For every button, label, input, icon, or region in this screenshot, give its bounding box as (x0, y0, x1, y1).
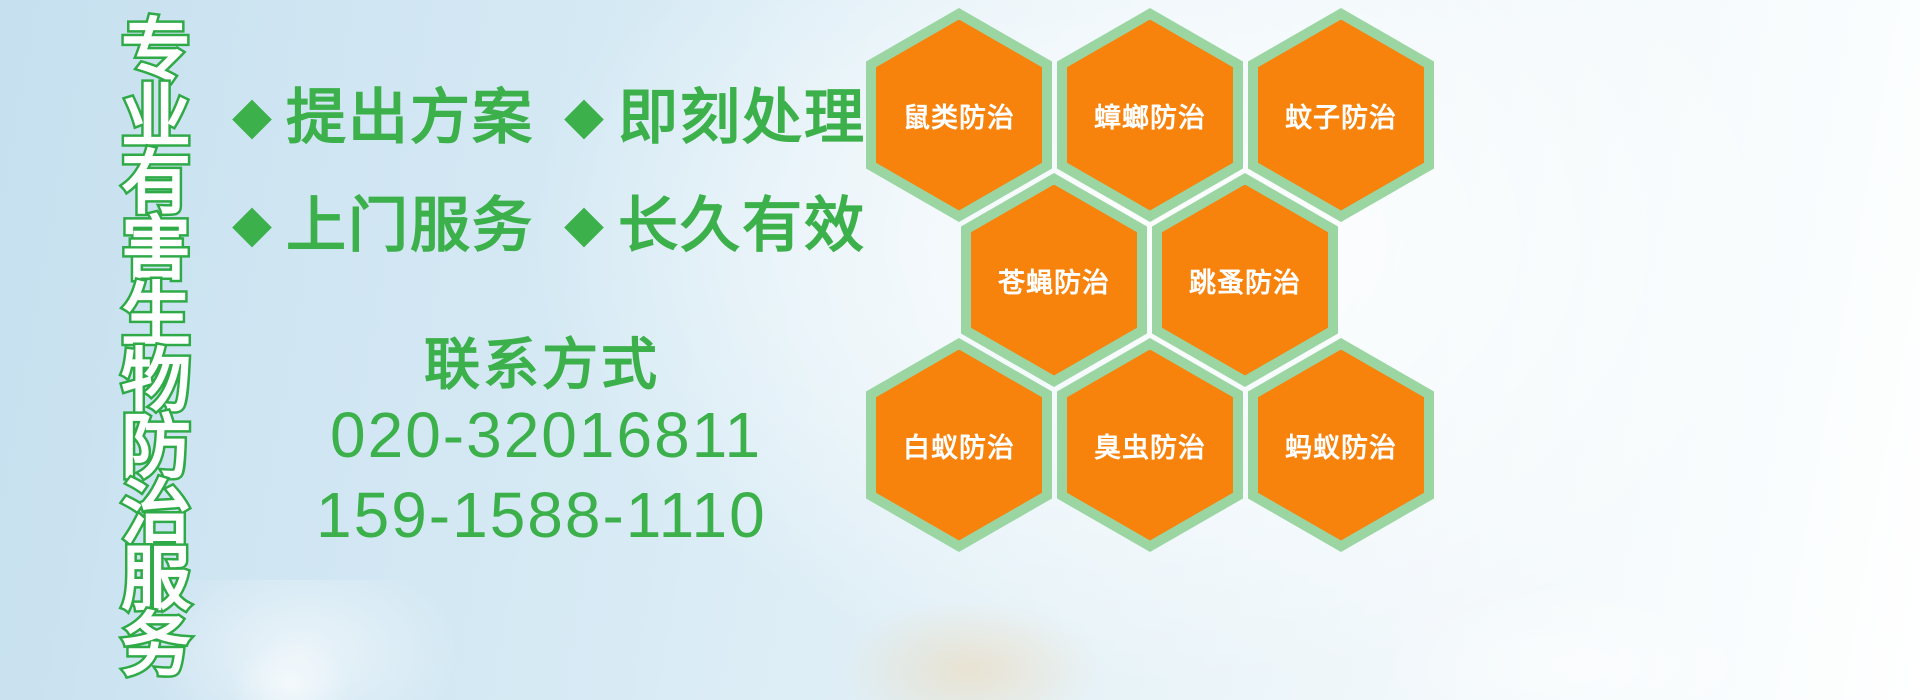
hex-inner: 蚊子防治 (1258, 20, 1424, 211)
hex-cell-ant[interactable]: 蚂蚁防治 (1248, 338, 1434, 552)
hex-cell-flea[interactable]: 跳蚤防治 (1152, 173, 1338, 387)
vertical-slogan-char: 治 (121, 480, 191, 546)
hex-inner: 白蚁防治 (876, 350, 1042, 541)
vertical-slogan-char: 专 (121, 18, 191, 84)
feature-row-1: ◆ 提出方案 ◆ 即刻处理 (232, 88, 866, 148)
hex-label-flea: 跳蚤防治 (1189, 261, 1301, 300)
hex-label-bedbug: 臭虫防治 (1094, 426, 1206, 465)
hex-cell-rodent[interactable]: 鼠类防治 (866, 8, 1052, 222)
hex-cell-fly[interactable]: 苍蝇防治 (961, 173, 1147, 387)
hex-cell-cockroach[interactable]: 蟑螂防治 (1057, 8, 1243, 222)
background-glow-left-small (230, 640, 350, 700)
hex-label-fly: 苍蝇防治 (998, 261, 1110, 300)
feature-label-onsite-service: 上门服务 (286, 196, 534, 256)
phone-number-landline[interactable]: 020-32016811 (330, 398, 762, 472)
diamond-bullet-icon: ◆ (232, 90, 272, 142)
diamond-bullet-icon: ◆ (232, 198, 272, 250)
vertical-slogan-char: 防 (121, 414, 191, 480)
vertical-slogan: 专 业 有 害 生 物 防 治 服 务 (104, 18, 208, 682)
vertical-slogan-char: 物 (121, 348, 191, 414)
hex-inner: 苍蝇防治 (971, 185, 1137, 376)
pest-control-banner: 专 业 有 害 生 物 防 治 服 务 ◆ 提出方案 ◆ 即刻处理 ◆ 上门服务… (0, 0, 1920, 700)
diamond-bullet-icon: ◆ (564, 198, 604, 250)
vertical-slogan-char: 服 (121, 546, 191, 612)
diamond-bullet-icon: ◆ (564, 90, 604, 142)
hex-cell-bedbug[interactable]: 臭虫防治 (1057, 338, 1243, 552)
hex-cell-mosquito[interactable]: 蚊子防治 (1248, 8, 1434, 222)
hex-inner: 蟑螂防治 (1067, 20, 1233, 211)
phone-number-mobile[interactable]: 159-1588-1110 (316, 478, 767, 552)
hex-cell-termite[interactable]: 白蚁防治 (866, 338, 1052, 552)
hex-inner: 臭虫防治 (1067, 350, 1233, 541)
feature-label-propose-plan: 提出方案 (286, 88, 534, 148)
service-honeycomb: 鼠类防治 蟑螂防治 蚊子防治 苍蝇防治 跳蚤防治 白蚁防治 (860, 0, 1460, 700)
vertical-slogan-char: 有 (121, 150, 191, 216)
hex-label-cockroach: 蟑螂防治 (1094, 96, 1206, 135)
vertical-slogan-char: 务 (121, 612, 191, 678)
hex-label-termite: 白蚁防治 (903, 426, 1015, 465)
feature-row-2: ◆ 上门服务 ◆ 长久有效 (232, 196, 866, 256)
hex-label-rodent: 鼠类防治 (903, 96, 1015, 135)
hex-inner: 蚂蚁防治 (1258, 350, 1424, 541)
hex-inner: 鼠类防治 (876, 20, 1042, 211)
feature-label-immediate-handling: 即刻处理 (618, 88, 866, 148)
vertical-slogan-char: 生 (121, 282, 191, 348)
hex-inner: 跳蚤防治 (1162, 185, 1328, 376)
hex-label-mosquito: 蚊子防治 (1285, 96, 1397, 135)
vertical-slogan-char: 业 (121, 84, 191, 150)
contact-title: 联系方式 (424, 320, 660, 401)
feature-label-long-lasting: 长久有效 (618, 196, 866, 256)
vertical-slogan-char: 害 (121, 216, 191, 282)
hex-label-ant: 蚂蚁防治 (1285, 426, 1397, 465)
